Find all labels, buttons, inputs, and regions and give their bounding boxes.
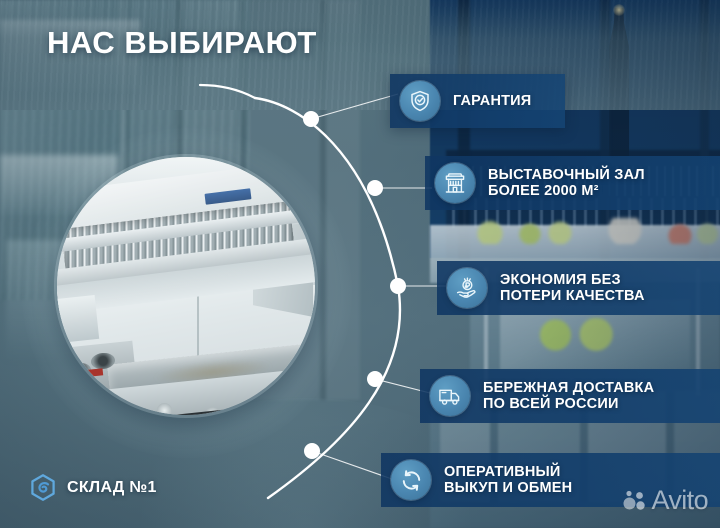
feature-label: БЕРЕЖНАЯ ДОСТАВКА ПО ВСЕЙ РОССИИ [483,380,654,412]
feature-item-savings[interactable]: ЭКОНОМИЯ БЕЗ ПОТЕРИ КАЧЕСТВА [437,261,720,315]
product-photo-circle [57,157,315,415]
feature-label: ОПЕРАТИВНЫЙ ВЫКУП И ОБМЕН [444,464,572,496]
brand-logo[interactable]: СКЛАД №1 [28,473,157,503]
exchange-arrows-icon [391,460,431,500]
feature-label: ЭКОНОМИЯ БЕЗ ПОТЕРИ КАЧЕСТВА [500,272,645,304]
promo-banner-image: НАС ВЫБИРАЮТ [0,0,720,528]
delivery-truck-icon [430,376,470,416]
brand-name: СКЛАД №1 [67,479,157,497]
shield-check-icon [400,81,440,121]
feature-item-showroom[interactable]: ВЫСТАВОЧНЫЙ ЗАЛ БОЛЕЕ 2000 М² [425,156,720,210]
page-title: НАС ВЫБИРАЮТ [47,25,317,61]
avito-dots-icon [622,489,648,513]
avito-watermark: Avito [622,485,708,516]
storefront-icon [435,163,475,203]
hand-ruble-icon [447,268,487,308]
photo-highlight [57,157,315,415]
feature-item-delivery[interactable]: БЕРЕЖНАЯ ДОСТАВКА ПО ВСЕЙ РОССИИ [420,369,720,423]
feature-label: ВЫСТАВОЧНЫЙ ЗАЛ БОЛЕЕ 2000 М² [488,167,645,199]
feature-item-guarantee[interactable]: ГАРАНТИЯ [390,74,565,128]
hexagon-swirl-icon [28,473,58,503]
feature-label: ГАРАНТИЯ [453,93,531,109]
avito-wordmark: Avito [651,485,708,516]
